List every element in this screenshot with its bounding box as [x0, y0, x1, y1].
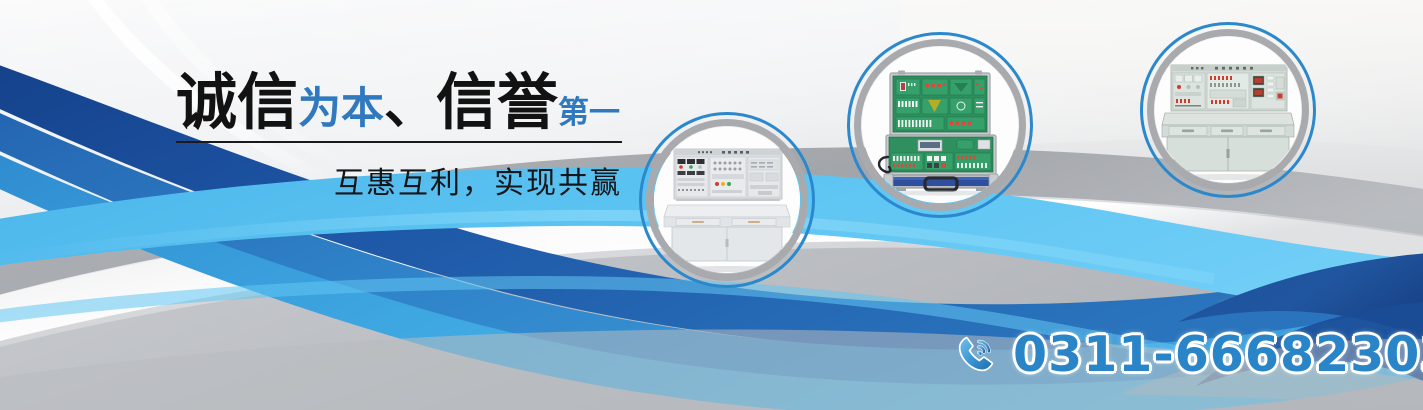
product-photo-test-bench: [1155, 37, 1301, 183]
promotional-banner: 诚信为本、信誉第一 互惠互利，实现共赢: [0, 0, 1423, 410]
product-circle-right[interactable]: [1140, 22, 1316, 198]
product-circle-left[interactable]: [639, 112, 815, 288]
product-photo-workbench: [654, 127, 800, 273]
subtitle-text: 互惠互利，实现共赢: [176, 158, 622, 202]
headline-part-2: 为本: [298, 85, 384, 133]
headline-divider: [176, 141, 622, 143]
headline-text: 诚信为本、信誉第一: [176, 72, 626, 133]
headline-part-1: 诚信: [176, 68, 298, 136]
phone-call-icon: [953, 331, 1001, 379]
phone-number-text: 0311-66682303: [1013, 326, 1423, 383]
headline-comma: 、: [384, 77, 436, 135]
headline-part-3: 信誉: [436, 68, 558, 136]
contact-block[interactable]: 0311-66682303: [953, 326, 1423, 383]
headline-part-4: 第一: [558, 95, 620, 130]
product-photo-trainer-case: [862, 47, 1018, 203]
product-circle-middle[interactable]: [847, 32, 1033, 218]
headline-block: 诚信为本、信誉第一 互惠互利，实现共赢: [176, 72, 626, 202]
